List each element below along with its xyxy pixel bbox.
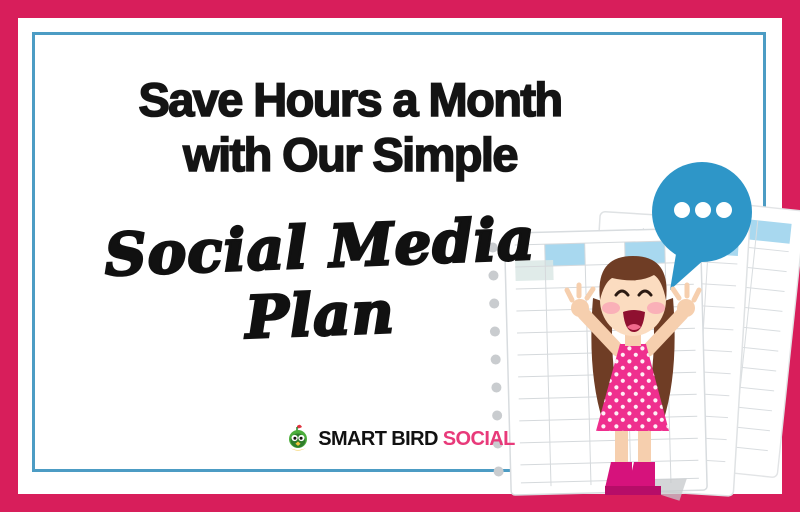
headline-line-1: Save Hours a Month — [40, 72, 660, 127]
logo-wordmark: SMART BIRD SOCIAL — [318, 428, 515, 451]
logo-word-dark: SMART BIRD — [318, 428, 438, 450]
poster-canvas: Save Hours a Month with Our Simple Socia… — [0, 0, 800, 512]
logo-word-pink: SOCIAL — [443, 428, 515, 450]
brand-logo: SMART BIRD SOCIAL — [0, 424, 800, 454]
headline-line-2: with Our Simple — [40, 127, 660, 182]
page-title: Save Hours a Month with Our Simple — [40, 72, 660, 183]
script-subtitle: Social Media Plan — [40, 218, 600, 351]
bird-icon — [285, 424, 311, 454]
